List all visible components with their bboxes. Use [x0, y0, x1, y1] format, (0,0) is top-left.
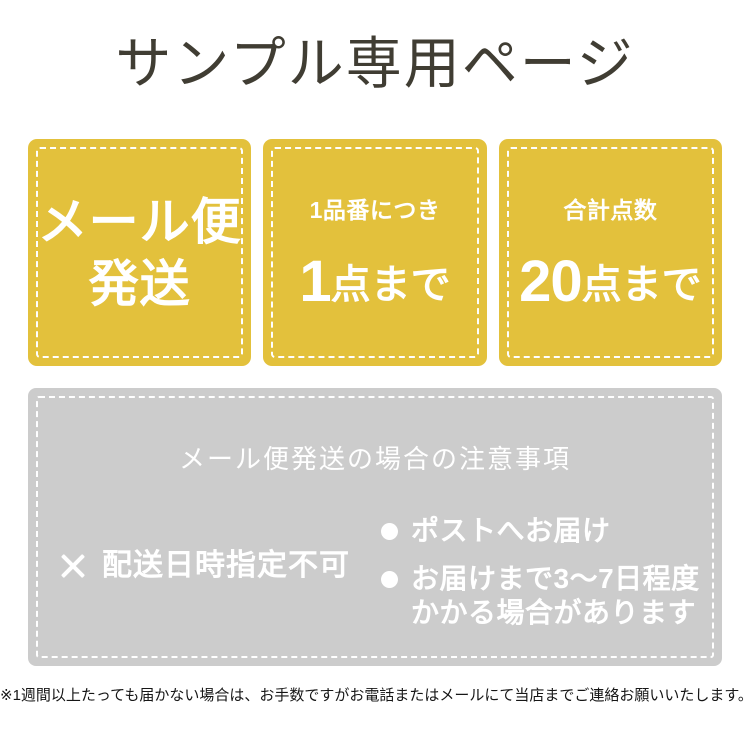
filled-circle-bullet-icon — [381, 523, 398, 540]
card-total-limit-number: 20 — [519, 249, 582, 314]
notice-bullet-item: お届けまで3〜7日程度 かかる場合があります — [381, 562, 722, 630]
card-per-item-limit-content: 1品番につき 1点まで — [263, 196, 486, 309]
card-total-limit: 合計点数 20点まで — [499, 139, 722, 366]
notice-bullet-text: お届けまで3〜7日程度 かかる場合があります — [411, 562, 700, 630]
card-per-item-limit-number: 1 — [299, 249, 330, 314]
card-shipping-method: メール便 発送 — [28, 139, 251, 366]
info-cards-row: メール便 発送 1品番につき 1点まで 合計点数 20点まで — [28, 139, 722, 366]
card-total-limit-caption: 合計点数 — [499, 196, 722, 224]
notice-bullet-line2: かかる場合があります — [411, 596, 700, 630]
card-total-limit-suffix: 点まで — [582, 263, 702, 307]
notice-panel: メール便発送の場合の注意事項 配送日時指定不可 ポストへお届け お届けまで3〜7… — [28, 388, 722, 666]
x-mark-icon — [58, 551, 88, 581]
footer-note: ※1週間以上たっても届かない場合は、お手数ですがお電話またはメールにて当店までご… — [0, 686, 750, 706]
card-per-item-limit-value: 1点まで — [263, 258, 486, 309]
notice-bullet-item: ポストへお届け — [381, 514, 722, 548]
card-per-item-limit-suffix: 点まで — [331, 263, 451, 307]
card-shipping-method-content: メール便 発送 — [28, 191, 251, 315]
notice-bullet-line1: ポストへお届け — [411, 515, 611, 546]
notice-bullet-line1: お届けまで3〜7日程度 — [411, 563, 700, 594]
notice-heading: メール便発送の場合の注意事項 — [28, 443, 722, 475]
card-total-limit-content: 合計点数 20点まで — [499, 196, 722, 309]
notice-body: 配送日時指定不可 ポストへお届け お届けまで3〜7日程度 かかる場合があります — [28, 512, 722, 652]
card-per-item-limit: 1品番につき 1点まで — [263, 139, 486, 366]
card-per-item-limit-caption: 1品番につき — [263, 196, 486, 224]
card-shipping-method-line1: メール便 — [28, 191, 251, 253]
notice-restriction: 配送日時指定不可 — [28, 512, 373, 584]
notice-restriction-label: 配送日時指定不可 — [102, 548, 350, 584]
sample-shipping-info-banner: サンプル専用ページ メール便 発送 1品番につき 1点まで 合計点数 — [0, 0, 750, 750]
filled-circle-bullet-icon — [381, 571, 398, 588]
card-total-limit-value: 20点まで — [499, 258, 722, 309]
notice-bullet-text: ポストへお届け — [411, 514, 611, 548]
card-shipping-method-line2: 発送 — [28, 253, 251, 315]
notice-bullet-list: ポストへお届け お届けまで3〜7日程度 かかる場合があります — [373, 512, 722, 630]
page-title: サンプル専用ページ — [0, 32, 750, 96]
